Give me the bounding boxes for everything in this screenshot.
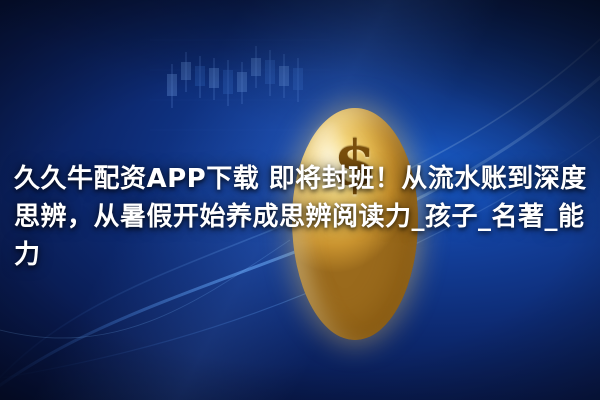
promo-banner-image: $ 久久牛配资APP下载 即将封班！从流水账到深度思辨，从暑假开始养成思辨阅读力…: [0, 0, 600, 400]
headline-text: 久久牛配资APP下载 即将封班！从流水账到深度思辨，从暑假开始养成思辨阅读力_孩…: [14, 160, 590, 274]
